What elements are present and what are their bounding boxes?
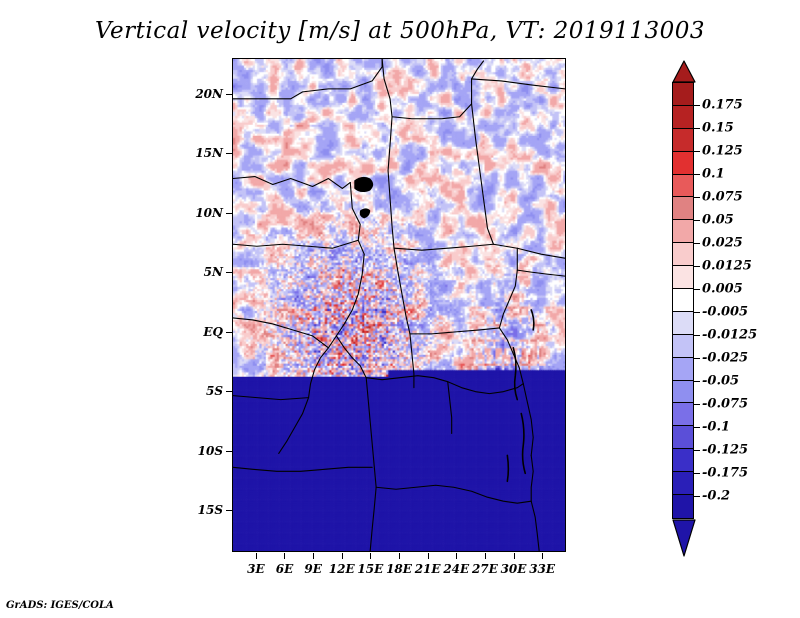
x-tick-mark [456,553,457,559]
x-tick-label: 21E [415,562,441,576]
x-tick-label: 6E [276,562,294,576]
x-tick-mark [313,553,314,559]
colorbar-tick [694,473,700,474]
colorbar-label: 0.075 [702,190,743,205]
y-tick-mark [226,213,232,214]
x-tick-mark [370,553,371,559]
colorbar-label: -0.075 [702,397,748,412]
y-tick-label: 5N [204,265,223,279]
y-tick-mark [226,451,232,452]
colorbar-tick [694,197,700,198]
x-tick-label: 33E [529,562,555,576]
colorbar-tick [694,266,700,267]
colorbar-label: 0.1 [702,167,725,182]
colorbar-label: -0.125 [702,443,748,458]
page-title: Vertical velocity [m/s] at 500hPa, VT: 2… [0,18,800,44]
y-tick-mark [226,272,232,273]
colorbar-band [673,335,693,358]
colorbar-label: -0.05 [702,374,739,389]
colorbar-tick [694,404,700,405]
colorbar-label: 0.005 [702,282,743,297]
colorbar-band [673,266,693,289]
grads-figure: Vertical velocity [m/s] at 500hPa, VT: 2… [0,0,800,618]
x-tick-mark [514,553,515,559]
y-tick-label: 20N [195,87,223,101]
colorbar[interactable]: 0.1750.150.1250.10.0750.050.0250.01250.0… [670,60,800,560]
colorbar-label: 0.025 [702,236,743,251]
colorbar-band [673,197,693,220]
x-tick-mark [399,553,400,559]
colorbar-band [673,495,693,518]
colorbar-band [673,403,693,426]
colorbar-tick [694,220,700,221]
x-tick-label: 15E [357,562,383,576]
colorbar-bottom-arrow-icon [672,519,696,557]
x-tick-label: 3E [247,562,265,576]
colorbar-tick [694,243,700,244]
x-tick-label: 12E [329,562,355,576]
x-tick-mark [256,553,257,559]
colorbar-bands [672,82,694,519]
colorbar-tick [694,335,700,336]
y-tick-mark [226,94,232,95]
colorbar-label: 0.0125 [702,259,752,274]
colorbar-label: -0.025 [702,351,748,366]
colorbar-label: -0.005 [702,305,748,320]
colorbar-band [673,472,693,495]
colorbar-label: 0.05 [702,213,734,228]
colorbar-band [673,449,693,472]
colorbar-tick [694,174,700,175]
x-tick-mark [542,553,543,559]
colorbar-tick [694,312,700,313]
colorbar-tick [694,427,700,428]
map-plot-area[interactable] [232,58,566,552]
colorbar-band [673,175,693,198]
colorbar-tick [694,289,700,290]
vertical-velocity-heatmap [233,59,565,551]
colorbar-band [673,358,693,381]
y-tick-label: 5S [206,384,223,398]
x-tick-label: 9E [304,562,322,576]
colorbar-tick [694,381,700,382]
y-tick-label: 15N [195,146,223,160]
colorbar-label: -0.1 [702,420,730,435]
x-tick-mark [342,553,343,559]
colorbar-band [673,426,693,449]
colorbar-band [673,381,693,404]
y-tick-mark [226,153,232,154]
colorbar-top-arrow-icon [672,60,696,83]
x-tick-label: 24E [443,562,469,576]
x-tick-mark [485,553,486,559]
x-tick-mark [284,553,285,559]
colorbar-band [673,243,693,266]
colorbar-label: 0.15 [702,121,734,136]
colorbar-tick [694,358,700,359]
x-tick-label: 30E [501,562,527,576]
colorbar-label: -0.175 [702,466,748,481]
colorbar-band [673,312,693,335]
y-tick-mark [226,510,232,511]
colorbar-tick [694,151,700,152]
colorbar-band [673,220,693,243]
colorbar-band [673,289,693,312]
x-tick-label: 27E [472,562,498,576]
y-tick-mark [226,332,232,333]
colorbar-tick [694,105,700,106]
colorbar-tick [694,496,700,497]
y-tick-label: 10N [195,206,223,220]
y-tick-label: EQ [203,325,223,339]
colorbar-tick [694,128,700,129]
x-tick-mark [428,553,429,559]
y-tick-label: 10S [198,444,223,458]
colorbar-label: -0.0125 [702,328,757,343]
colorbar-tick [694,450,700,451]
y-tick-mark [226,391,232,392]
grads-attribution: GrADS: IGES/COLA [6,600,114,611]
x-tick-label: 18E [386,562,412,576]
colorbar-label: 0.125 [702,144,743,159]
y-tick-label: 15S [198,503,223,517]
colorbar-band [673,129,693,152]
colorbar-band [673,106,693,129]
colorbar-label: -0.2 [702,489,730,504]
colorbar-label: 0.175 [702,98,743,113]
colorbar-band [673,83,693,106]
colorbar-band [673,152,693,175]
